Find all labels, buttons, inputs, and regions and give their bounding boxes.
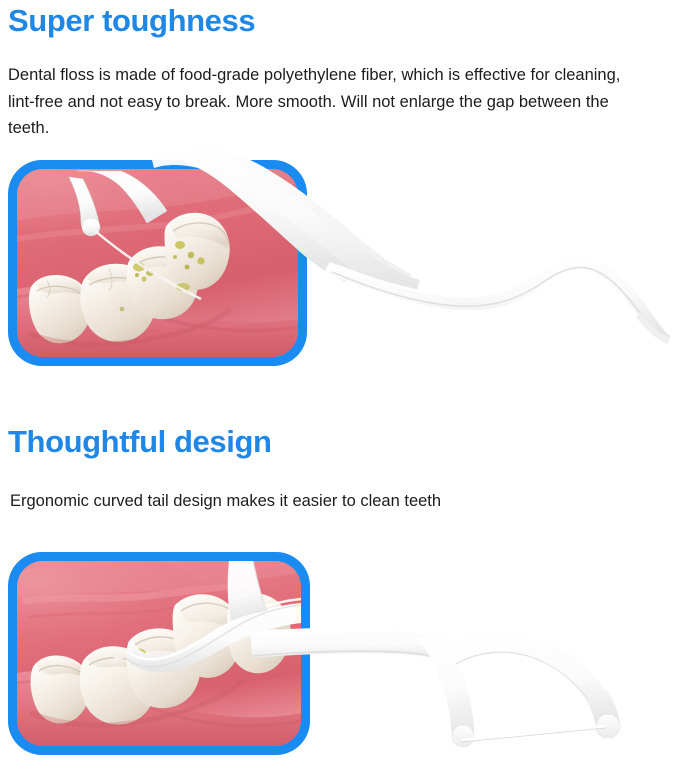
section-heading: Thoughtful design [8, 424, 272, 460]
product-illustration-card-curved-tail [8, 552, 310, 755]
curved-tail-illustration [17, 561, 301, 746]
section-body-text: Ergonomic curved tail design makes it ea… [10, 488, 650, 515]
floss-strand [462, 726, 606, 740]
plaque-spot [120, 307, 125, 312]
pick-shaft-tail-1 [324, 257, 670, 344]
section-body-text: Dental floss is made of food-grade polye… [8, 62, 648, 142]
illustration-frame [17, 561, 301, 746]
floss-fork-head-2 [418, 630, 620, 747]
flossing-illustration [17, 169, 298, 357]
section-heading: Super toughness [8, 3, 255, 39]
illustration-frame [17, 169, 298, 357]
product-illustration-card-flossing [8, 160, 307, 366]
